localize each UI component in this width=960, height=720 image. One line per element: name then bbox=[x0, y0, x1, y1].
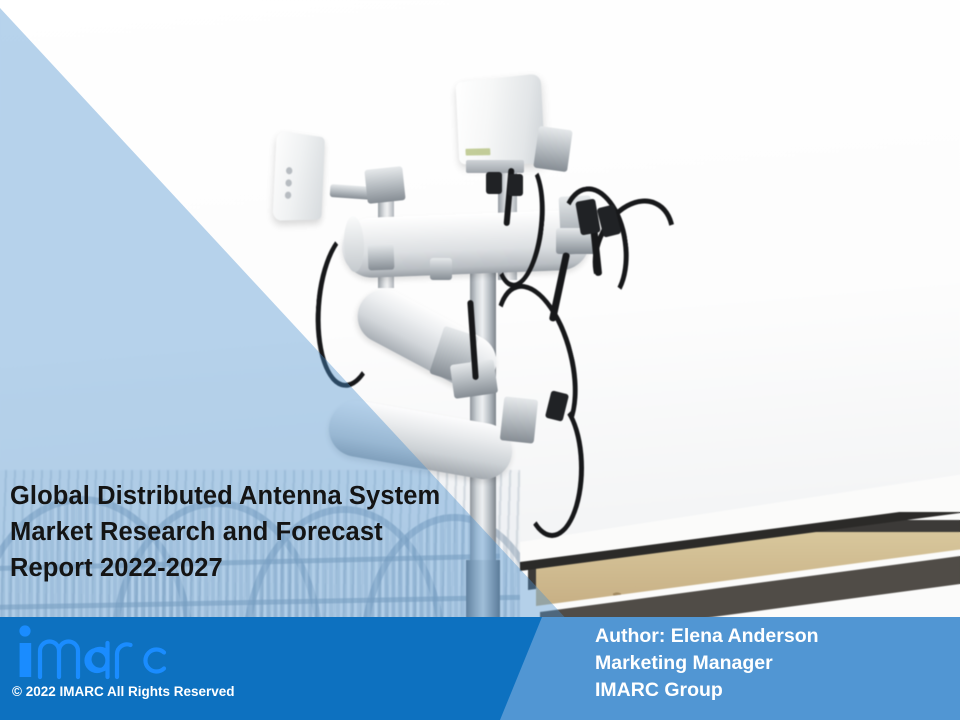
copyright-notice: © 2022 IMARC All Rights Reserved bbox=[12, 684, 235, 699]
author-job-title: Marketing Manager bbox=[595, 650, 819, 677]
imarc-logo[interactable] bbox=[14, 624, 214, 682]
report-title-line-2: Market Research and Forecast bbox=[10, 514, 630, 550]
report-title-line-1: Global Distributed Antenna System bbox=[10, 478, 630, 514]
cable-connector bbox=[486, 172, 502, 194]
report-title-line-3: Report 2022-2027 bbox=[10, 550, 630, 586]
cable-connector bbox=[508, 174, 523, 196]
antenna-bracket bbox=[430, 258, 452, 280]
author-company: IMARC Group bbox=[595, 677, 819, 704]
antenna-bracket bbox=[364, 166, 405, 204]
panel-antenna-left bbox=[272, 131, 324, 221]
cover-photo bbox=[0, 0, 960, 720]
author-credit: Author: Elena Anderson Marketing Manager… bbox=[595, 623, 819, 704]
antenna-bracket bbox=[533, 126, 573, 172]
report-cover: Global Distributed Antenna System Market… bbox=[0, 0, 960, 720]
report-title: Global Distributed Antenna System Market… bbox=[10, 478, 630, 586]
author-name: Author: Elena Anderson bbox=[595, 623, 819, 650]
panel-antenna-top bbox=[456, 73, 546, 164]
imarc-logo-icon bbox=[14, 624, 214, 682]
